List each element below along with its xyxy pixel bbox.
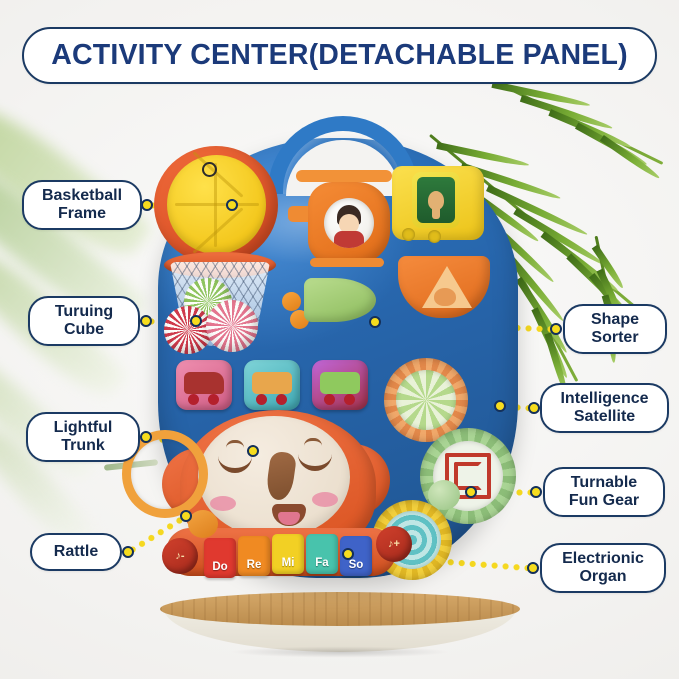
page-title: ACTIVITY CENTER(DETACHABLE PANEL) [51,39,628,72]
callout-label-turuing-cube[interactable]: Turuing Cube [28,296,140,346]
piano-key-so-label: So [349,559,364,571]
conn-shape-sorter-dot-start [550,323,562,335]
purple-car-wheel-2 [344,394,355,405]
locomotive-wheel-1 [188,394,199,405]
piano-key-mi-label: Mi [282,557,295,569]
teal-car-graphic [252,372,292,394]
volume-down-button[interactable]: ♪- [162,538,198,574]
train-button-locomotive[interactable] [176,360,232,410]
conn-intelligence-satellite-dot-end [494,400,506,412]
callout-label-intelligence-satellite[interactable]: Intelligence Satellite [540,383,669,433]
cat-picture [434,288,456,306]
helicopter-rotor[interactable] [296,170,392,182]
piano-key-do[interactable]: Do [204,538,236,578]
rattle-knob[interactable] [188,510,218,538]
piano-key-fa-label: Fa [315,557,328,569]
conn-turnable-fun-gear-dot-start [530,486,542,498]
volume-down-label: ♪- [175,550,184,562]
display-pedestal [160,592,520,654]
giraffe-picture [417,177,455,223]
giraffe-neck-icon [432,203,440,219]
conn-basketball-frame-dot-end [226,199,238,211]
train-wheel-1 [402,228,415,241]
child-body [334,231,364,248]
helicopter-skid [310,258,384,267]
conn-lightful-trunk-dot-end [247,445,259,457]
purple-car-graphic [320,372,360,394]
conn-rattle-dot-start [122,546,134,558]
volume-up-button[interactable]: ♪+ [376,526,412,562]
volume-up-label: ♪+ [388,538,400,550]
piano-key-do-label: Do [212,561,227,573]
slider-bead-1[interactable] [282,292,301,311]
conn-turuing-cube-dot-end [190,315,202,327]
elephant-blush-left [210,496,236,511]
page-title-banner: ACTIVITY CENTER(DETACHABLE PANEL) [22,27,657,84]
conn-shape-sorter-dot-end [369,316,381,328]
conn-electrionic-organ-dot-start [527,562,539,574]
elephant-brow-right [304,438,322,446]
train-button-car-teal[interactable] [244,360,300,410]
teal-car-wheel-2 [276,394,287,405]
piano-key-mi[interactable]: Mi [272,534,304,574]
pedestal-shadow [184,644,496,660]
callout-label-shape-sorter[interactable]: Shape Sorter [563,304,667,354]
backboard-center-dot [202,162,217,177]
callout-label-basketball-frame[interactable]: Basketball Frame [22,180,142,230]
conn-lightful-trunk-dot-start [140,431,152,443]
conn-rattle-dot-end [180,510,192,522]
callout-label-electrionic-organ[interactable]: Electrionic Organ [540,543,666,593]
striped-ball-red[interactable] [164,306,212,354]
callout-label-rattle[interactable]: Rattle [30,533,122,571]
conn-turnable-fun-gear-dot-end [465,486,477,498]
elephant-blush-right [312,492,338,507]
callout-label-lightful-trunk[interactable]: Lightful Trunk [26,412,140,462]
train-wheel-2 [428,230,441,243]
basketball-backboard [154,146,278,264]
conn-basketball-frame-dot-start [141,199,153,211]
train-button-car-purple[interactable] [312,360,368,410]
striped-ball-pink[interactable] [206,300,258,352]
piano-key-re-label: Re [247,559,262,571]
gear-pinwheel-hub [396,370,456,430]
piano-key-fa[interactable]: Fa [306,534,338,574]
callout-label-turnable-fun-gear[interactable]: Turnable Fun Gear [543,467,665,517]
conn-electrionic-organ-dot-end [342,548,354,560]
helicopter-window [324,198,374,248]
teal-car-wheel-1 [256,394,267,405]
conn-intelligence-satellite-dot-start [528,402,540,414]
locomotive-wheel-2 [208,394,219,405]
elephant-brow-left [226,440,244,448]
locomotive-graphic [184,372,224,394]
activity-center-toy: ♪- Do Re Mi Fa So ♪+ [140,110,540,600]
purple-car-wheel-1 [324,394,335,405]
piano-key-re[interactable]: Re [238,536,270,576]
conn-turuing-cube-dot-start [140,315,152,327]
